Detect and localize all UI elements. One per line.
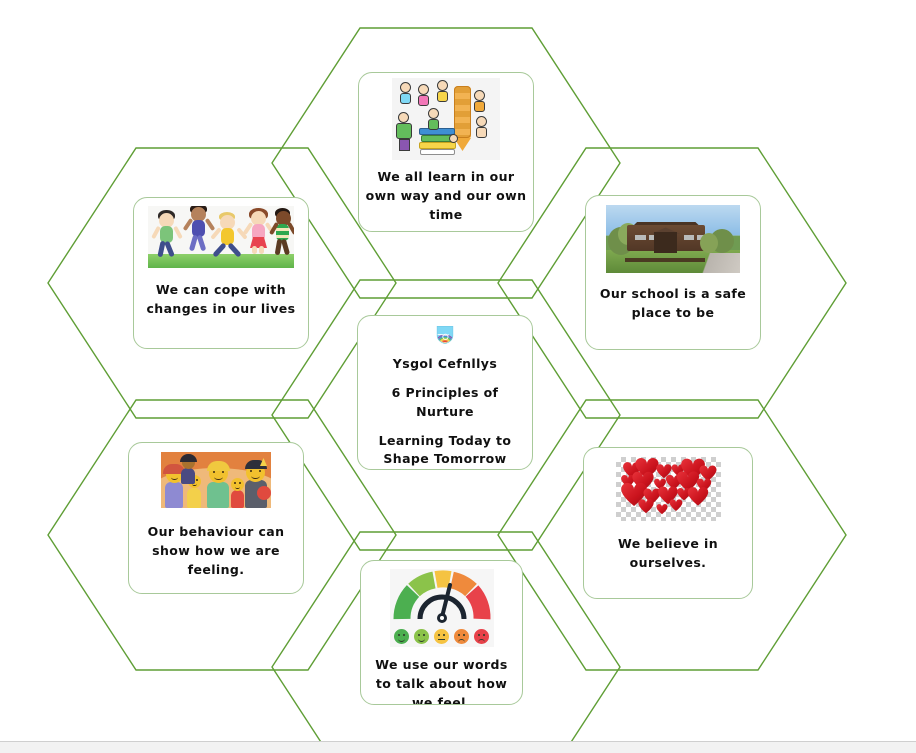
principle-card-self-esteem[interactable]: We believe in ourselves. bbox=[583, 447, 753, 599]
school-crest-icon bbox=[424, 325, 466, 344]
hearts-svg bbox=[616, 457, 721, 521]
principle-caption: We use our words to talk about how we fe… bbox=[361, 656, 522, 705]
driveway bbox=[684, 253, 740, 273]
principle-card-language[interactable]: We use our words to talk about how we fe… bbox=[360, 560, 523, 705]
principle-caption: We all learn in our own way and our own … bbox=[359, 168, 533, 224]
emotion-face-row bbox=[390, 629, 494, 644]
red-hearts-illustration bbox=[616, 457, 721, 521]
face-neutral-icon bbox=[434, 629, 449, 644]
principle-caption: We can cope with changes in our lives bbox=[134, 281, 308, 319]
canvas-page: We all learn in our own way and our own … bbox=[0, 0, 916, 742]
emotion-gauge-with-smiley-faces-illustration bbox=[390, 569, 494, 647]
face-icon bbox=[231, 478, 244, 491]
principle-caption: Our behaviour can show how we are feelin… bbox=[129, 523, 303, 579]
gauge-icon bbox=[390, 569, 494, 625]
nurture-principles-title: 6 Principles of Nurture bbox=[358, 384, 532, 422]
person-torso bbox=[165, 482, 183, 508]
child-figure bbox=[272, 208, 294, 254]
principle-card-change[interactable]: We can cope with changes in our lives bbox=[133, 197, 309, 349]
principle-caption: Our school is a safe place to be bbox=[586, 285, 760, 323]
children-with-books-and-pencil-illustration bbox=[392, 78, 500, 160]
child-figure bbox=[154, 210, 180, 254]
child-figure bbox=[214, 212, 244, 254]
person-torso bbox=[207, 482, 229, 508]
face-slightly-happy-icon bbox=[414, 629, 429, 644]
face-slightly-sad-icon bbox=[454, 629, 469, 644]
child-figure bbox=[186, 206, 212, 254]
tree-icon bbox=[700, 233, 718, 253]
cartoon-family-emoji-illustration bbox=[161, 452, 271, 508]
principle-caption: We believe in ourselves. bbox=[584, 535, 752, 573]
person-torso bbox=[187, 488, 201, 508]
school-motto: Learning Today to Shape Tomorrow bbox=[358, 432, 532, 470]
principle-card-behaviour[interactable]: Our behaviour can show how we are feelin… bbox=[128, 442, 304, 594]
face-sad-icon bbox=[474, 629, 489, 644]
school-building-photograph bbox=[606, 205, 740, 273]
school-name: Ysgol Cefnllys bbox=[358, 355, 532, 374]
person-torso bbox=[231, 490, 244, 508]
child-figure bbox=[246, 208, 272, 254]
entrance-porch bbox=[654, 232, 677, 252]
five-children-jumping-illustration bbox=[148, 206, 294, 268]
person-torso bbox=[181, 468, 195, 484]
principle-card-safe-base[interactable]: Our school is a safe place to be bbox=[585, 195, 761, 350]
center-card[interactable]: Ysgol Cefnllys 6 Principles of Nurture L… bbox=[357, 315, 533, 470]
principle-card-learning[interactable]: We all learn in our own way and our own … bbox=[358, 72, 534, 232]
face-happy-icon bbox=[394, 629, 409, 644]
